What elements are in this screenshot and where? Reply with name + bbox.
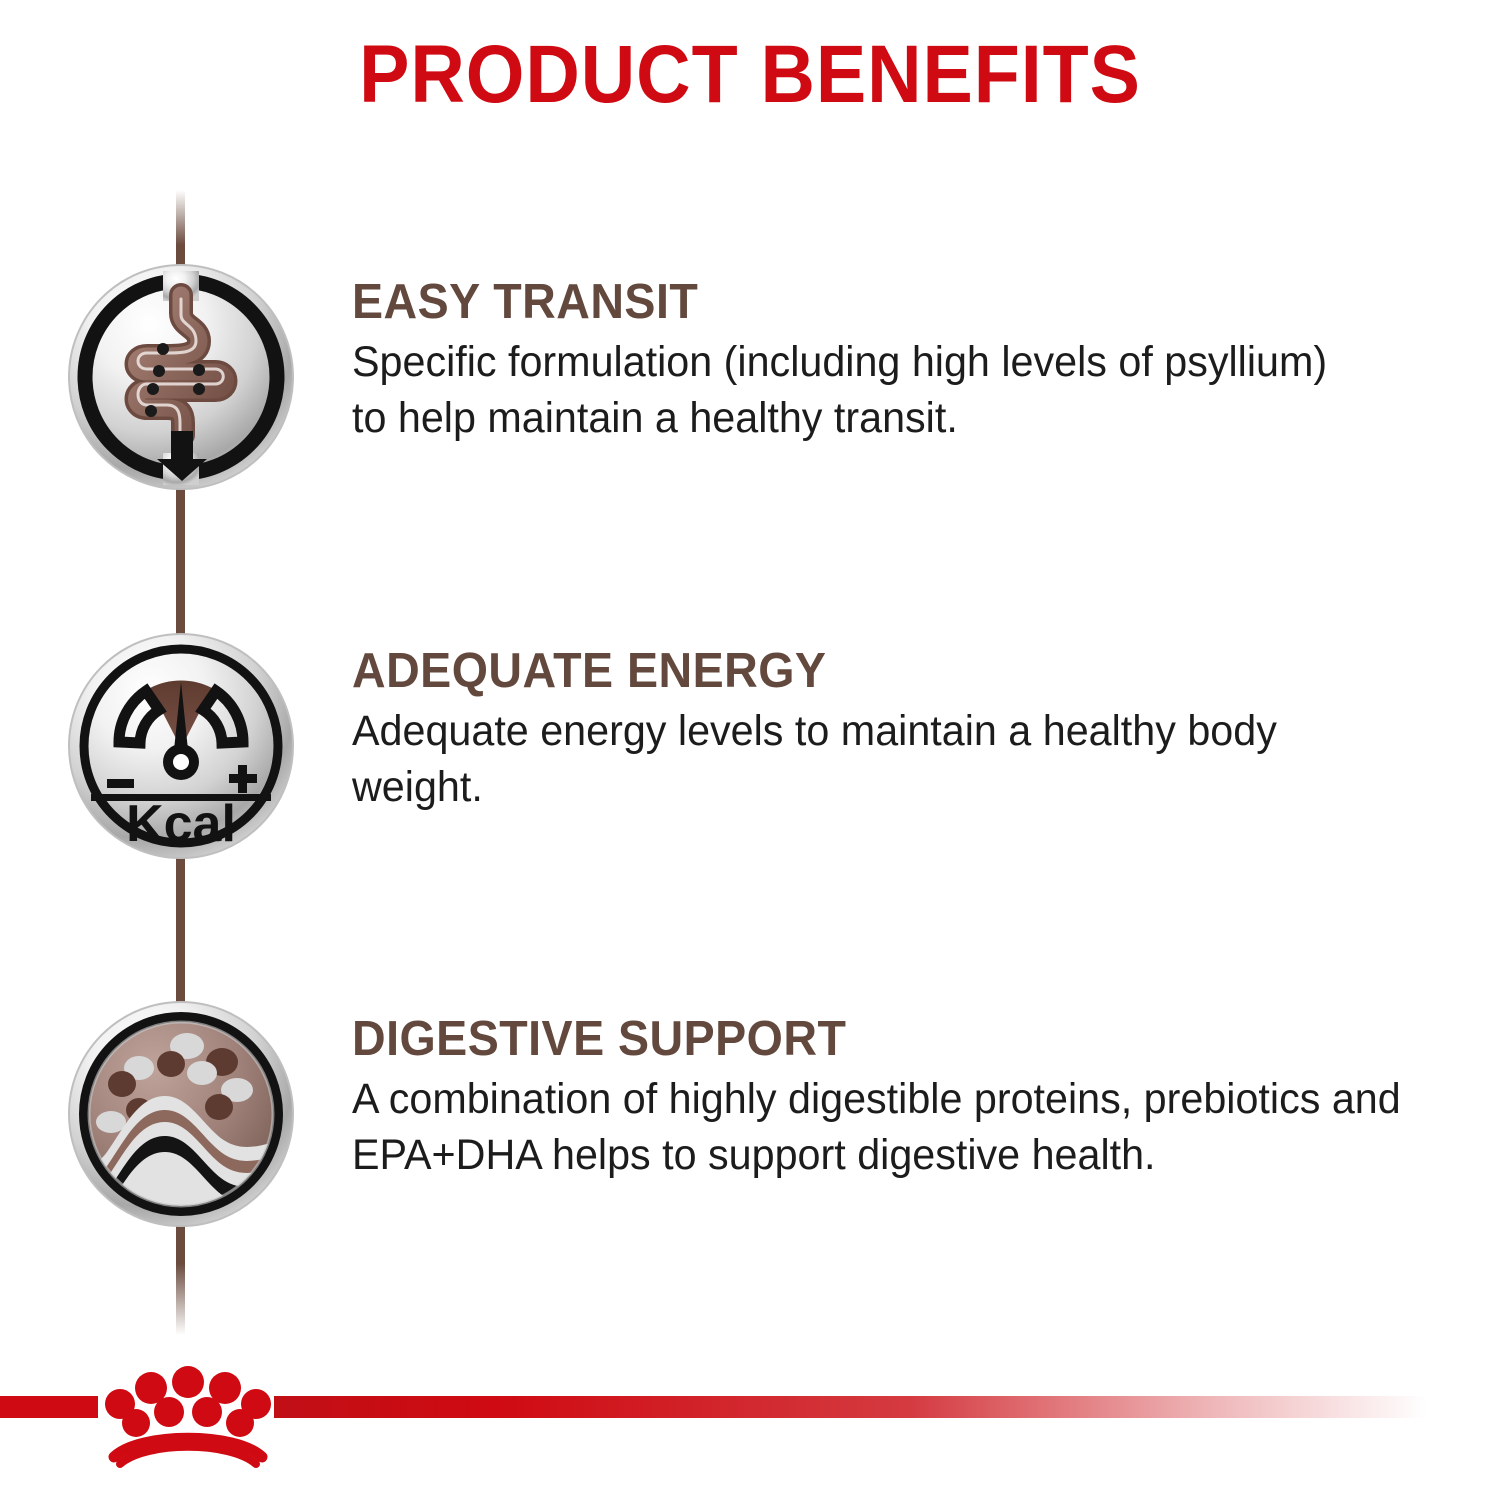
benefit-item-easy-transit: EASY TRANSIT Specific formulation (inclu… <box>0 263 1500 491</box>
benefit-item-digestive-support: DIGESTIVE SUPPORT A combination of highl… <box>0 1000 1500 1228</box>
product-benefits-page: PRODUCT BENEFITS <box>0 0 1500 1500</box>
footer <box>0 1350 1500 1500</box>
gut-lining-waves-icon <box>67 1000 295 1228</box>
footer-rule-right <box>274 1396 1500 1418</box>
benefit-description: A combination of highly digestible prote… <box>352 1072 1454 1184</box>
benefit-description: Adequate energy levels to maintain a hea… <box>352 704 1341 816</box>
benefit-heading: ADEQUATE ENERGY <box>352 646 1443 698</box>
benefit-text-block: DIGESTIVE SUPPORT A combination of highl… <box>352 1000 1500 1184</box>
benefit-heading: DIGESTIVE SUPPORT <box>352 1014 1443 1066</box>
benefit-heading: EASY TRANSIT <box>352 277 1443 329</box>
royal-canin-crown-logo <box>98 1360 278 1470</box>
benefit-text-block: EASY TRANSIT Specific formulation (inclu… <box>352 263 1500 447</box>
kcal-gauge-icon: Kcal <box>67 632 295 860</box>
footer-rule-left <box>0 1396 98 1418</box>
benefit-description: Specific formulation (including high lev… <box>352 335 1341 447</box>
intestine-arrow-icon <box>67 263 295 491</box>
page-title: PRODUCT BENEFITS <box>60 34 1440 116</box>
benefit-text-block: ADEQUATE ENERGY Adequate energy levels t… <box>352 632 1500 816</box>
benefit-item-adequate-energy: Kcal ADEQUATE ENERGY Adequate energy lev… <box>0 632 1500 860</box>
gauge-kcal-label: Kcal <box>126 795 236 853</box>
